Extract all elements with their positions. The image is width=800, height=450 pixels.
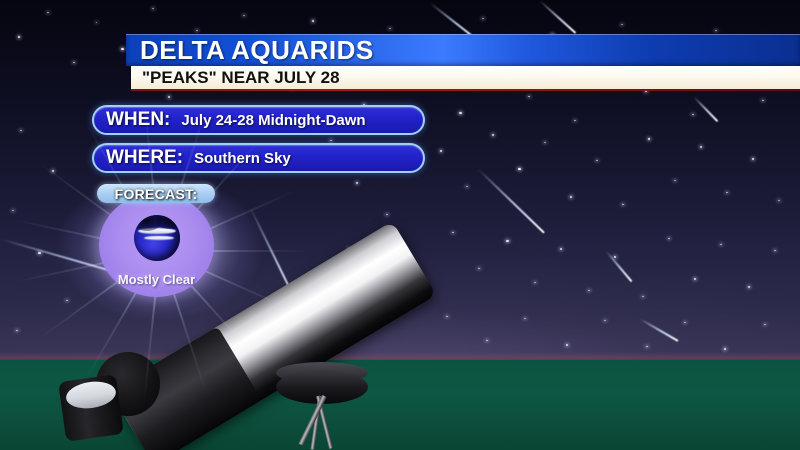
star: [168, 96, 170, 98]
star: [152, 8, 154, 9]
star: [492, 134, 494, 136]
forecast-tab-label: FORECAST:: [115, 186, 198, 202]
star: [47, 12, 49, 13]
subheadline-banner: "PEAKS" NEAR JULY 28: [131, 66, 800, 89]
star: [621, 24, 623, 25]
detail-label-when: WHEN:: [94, 109, 170, 131]
detail-value-when: July 24-28 Midnight-Dawn: [170, 112, 365, 129]
detail-row-when: WHEN: July 24-28 Midnight-Dawn: [92, 105, 425, 135]
star: [694, 278, 696, 280]
star: [12, 210, 14, 211]
star: [614, 256, 616, 258]
star: [752, 158, 754, 160]
ground-plane: [0, 360, 800, 450]
star: [748, 286, 750, 288]
page-subtitle: "PEAKS" NEAR JULY 28: [131, 68, 340, 88]
star: [778, 200, 780, 201]
star: [724, 348, 726, 350]
star: [524, 318, 526, 319]
forecast-tab: FORECAST:: [97, 184, 215, 203]
star: [312, 20, 314, 22]
star: [440, 150, 442, 152]
detail-value-where: Southern Sky: [183, 150, 291, 167]
star: [38, 252, 41, 254]
page-title: DELTA AQUARIDS: [126, 35, 374, 66]
star: [566, 344, 568, 346]
star: [389, 28, 391, 29]
star: [121, 48, 124, 50]
star: [243, 15, 245, 16]
star: [544, 142, 546, 143]
star: [560, 248, 562, 250]
star: [52, 170, 54, 172]
star: [459, 112, 462, 114]
star: [700, 146, 702, 148]
star: [518, 168, 521, 170]
detail-row-where: WHERE: Southern Sky: [92, 143, 425, 173]
headline-banner: DELTA AQUARIDS: [126, 34, 800, 66]
broadcast-weather-graphic: DELTA AQUARIDS "PEAKS" NEAR JULY 28 WHEN…: [0, 0, 800, 450]
star: [715, 30, 717, 31]
detail-label-where: WHERE:: [94, 147, 183, 169]
star: [534, 282, 536, 283]
star: [506, 240, 509, 242]
star: [396, 286, 398, 288]
star: [570, 196, 572, 198]
forecast-sky-icon: [134, 215, 180, 261]
forecast-condition: Mostly Clear: [99, 272, 214, 287]
banner-accent-rule: [131, 89, 800, 91]
star: [482, 18, 484, 19]
star: [356, 182, 358, 184]
